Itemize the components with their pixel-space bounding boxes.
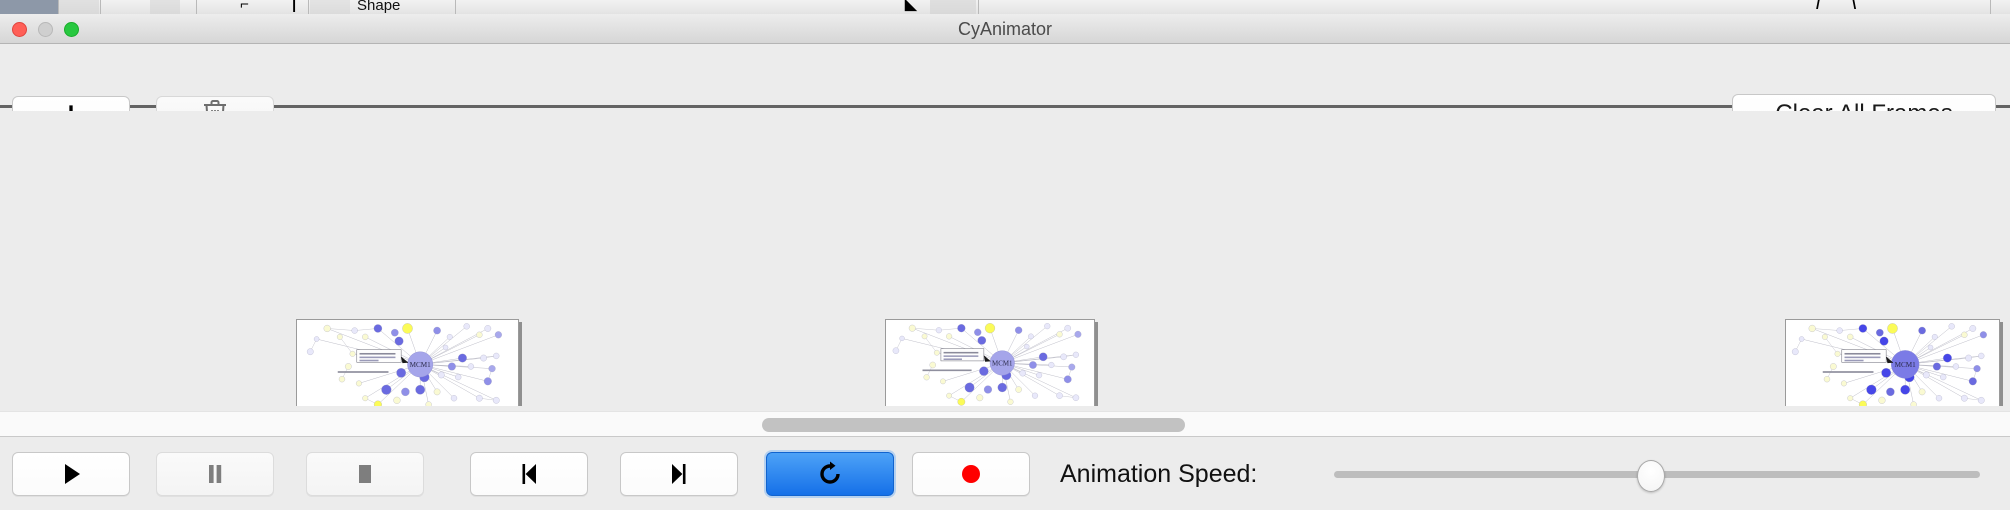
keyframe-thumbnail[interactable]: MCM1 <box>1785 319 2000 406</box>
animation-speed-slider-handle[interactable] <box>1637 460 1665 492</box>
record-button[interactable] <box>912 452 1030 496</box>
skip-back-icon <box>512 459 546 489</box>
playback-control-bar: Animation Speed: <box>0 438 2010 510</box>
record-icon <box>954 459 988 489</box>
skip-forward-icon <box>662 459 696 489</box>
title-bar: CyAnimator <box>0 14 2010 44</box>
svg-text:MCM1: MCM1 <box>992 359 1013 367</box>
timeline-scrollbar-thumb[interactable] <box>762 418 1185 432</box>
window-title: CyAnimator <box>0 14 2010 44</box>
play-icon <box>54 459 88 489</box>
pause-icon <box>198 459 232 489</box>
svg-text:MCM1: MCM1 <box>410 361 432 369</box>
stop-icon <box>348 459 382 489</box>
timeline-scrollbar[interactable] <box>0 411 2010 437</box>
background-window-label: Shape <box>357 0 400 14</box>
loop-icon <box>813 459 847 489</box>
svg-text:MCM1: MCM1 <box>1895 361 1917 369</box>
cyanimator-window: ⌐ | Shape ◣ / \ CyAnimator + <box>0 0 2010 510</box>
stop-button[interactable] <box>306 452 424 496</box>
background-window-strip: ⌐ | Shape ◣ / \ <box>0 0 2010 14</box>
loop-button[interactable] <box>766 452 894 496</box>
frame-toolbar: + Clear All Frames <box>0 44 2010 108</box>
keyframe-thumbnail[interactable]: MCM1 <box>296 319 519 406</box>
pause-button[interactable] <box>156 452 274 496</box>
animation-speed-label: Animation Speed: <box>1060 452 1257 496</box>
skip-to-end-button[interactable] <box>620 452 738 496</box>
timeline-panel[interactable]: MCM1MCM1MCM1 2131415161718 Seconds <box>0 111 2010 406</box>
skip-to-start-button[interactable] <box>470 452 588 496</box>
play-button[interactable] <box>12 452 130 496</box>
keyframe-thumbnail[interactable]: MCM1 <box>885 319 1095 406</box>
